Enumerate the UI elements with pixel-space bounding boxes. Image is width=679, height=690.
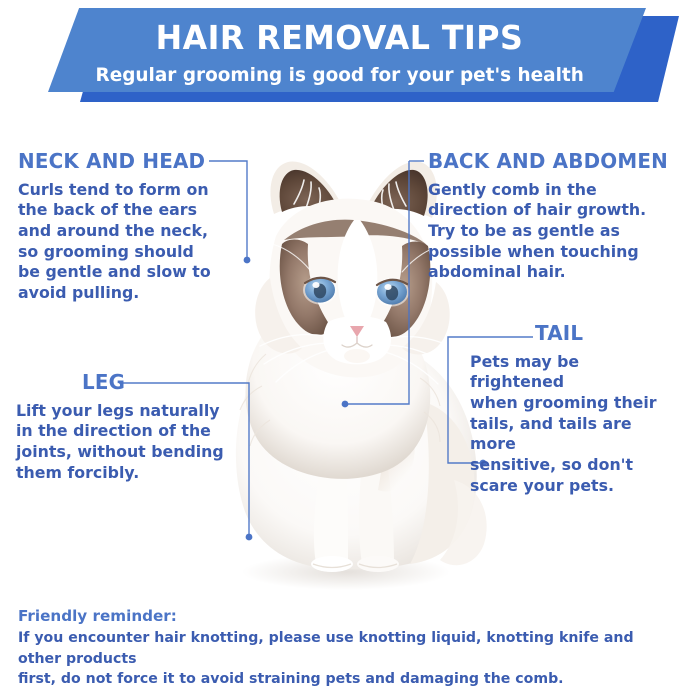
- callout-title-back-and-abdomen: BACK AND ABDOMEN: [428, 150, 669, 173]
- callout-title-neck-and-head: NECK AND HEAD: [18, 150, 227, 173]
- callout-back-and-abdomen: BACK AND ABDOMEN Gently comb in the dire…: [428, 150, 676, 283]
- callout-body-neck-and-head: Curls tend to form on the back of the ea…: [18, 180, 228, 304]
- footer-title: Friendly reminder:: [18, 606, 650, 626]
- callout-tail: TAIL Pets may be frightened when groomin…: [470, 322, 675, 497]
- callout-body-leg: Lift your legs naturally in the directio…: [16, 401, 231, 484]
- callout-body-tail: Pets may be frightened when grooming the…: [470, 352, 670, 497]
- page-title: HAIR REMOVAL TIPS: [156, 21, 524, 56]
- callout-leg: LEG Lift your legs naturally in the dire…: [16, 371, 236, 483]
- banner-text-group: HAIR REMOVAL TIPS Regular grooming is go…: [0, 8, 679, 100]
- footer-note: Friendly reminder: If you encounter hair…: [18, 606, 663, 690]
- callout-neck-and-head: NECK AND HEAD Curls tend to form on the …: [18, 150, 233, 304]
- footer-body: If you encounter hair knotting, please u…: [18, 628, 651, 689]
- callout-title-leg: LEG: [82, 371, 231, 394]
- header-banner: HAIR REMOVAL TIPS Regular grooming is go…: [0, 8, 679, 100]
- callout-body-back-and-abdomen: Gently comb in the direction of hair gro…: [428, 180, 670, 284]
- callout-title-tail: TAIL: [535, 322, 671, 345]
- page-subtitle: Regular grooming is good for your pet's …: [95, 65, 583, 86]
